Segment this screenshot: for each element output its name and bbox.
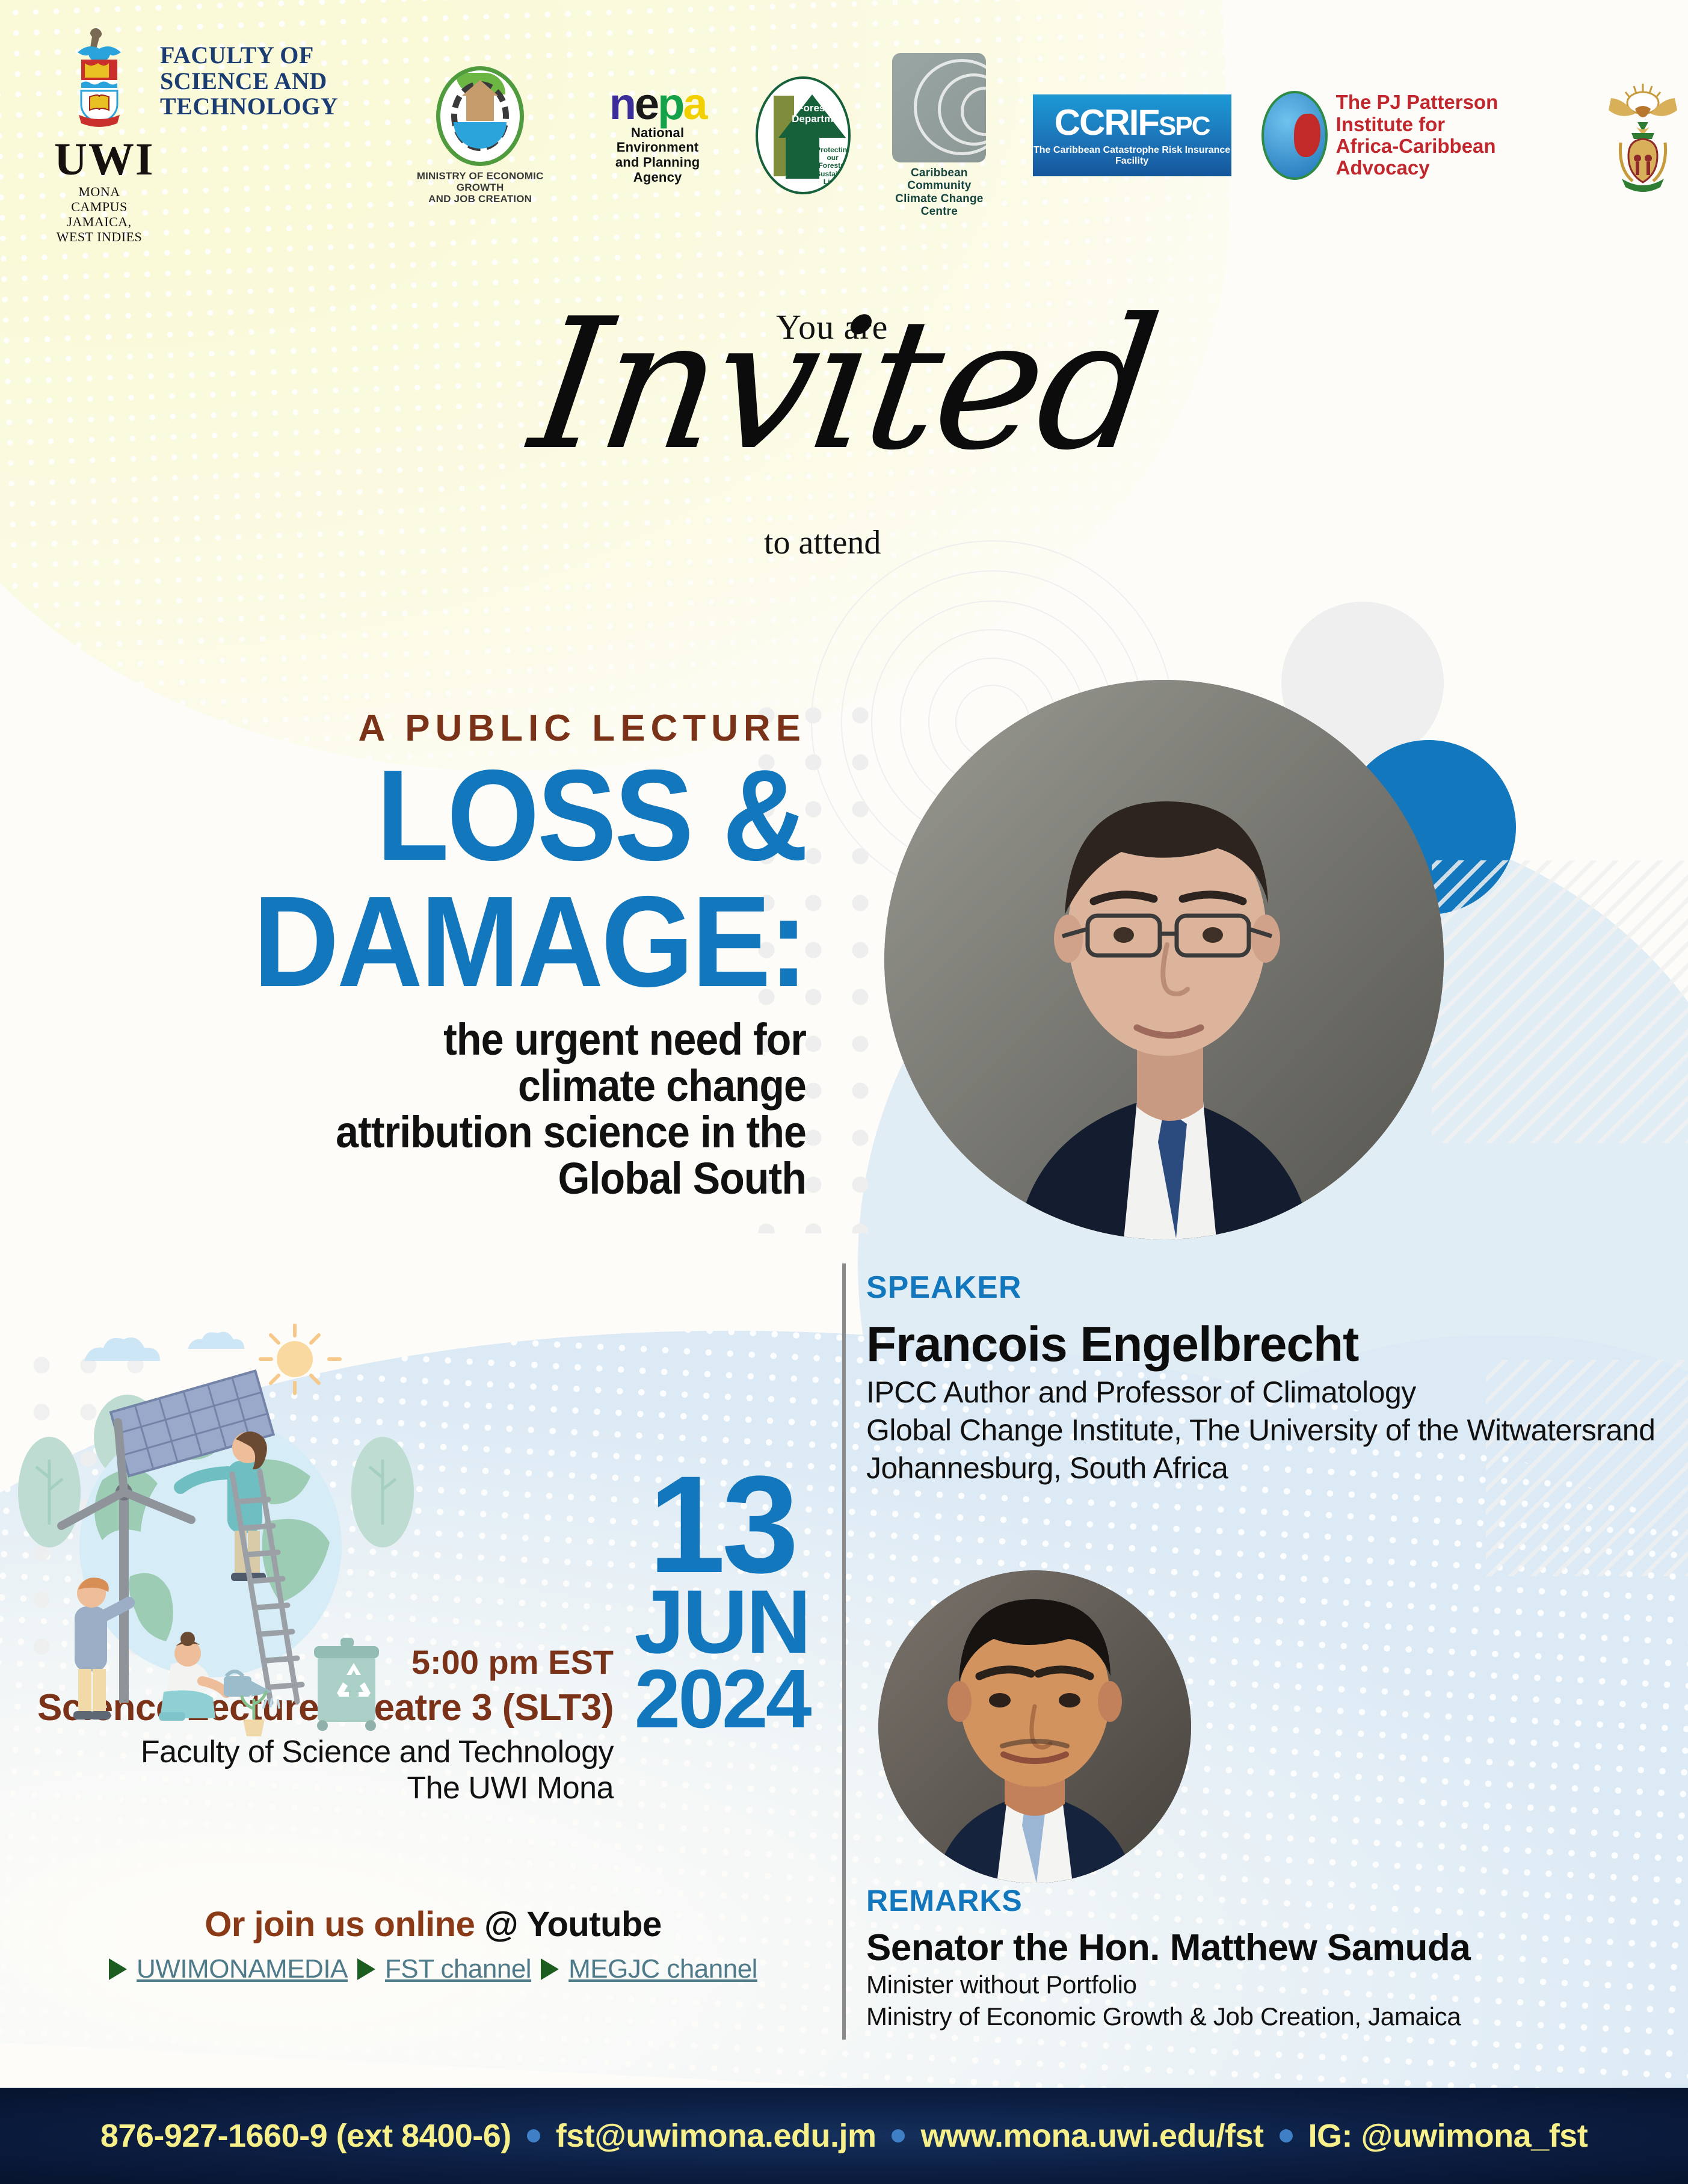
pjp-title-2: Africa-Caribbean Advocacy bbox=[1336, 135, 1571, 179]
cccc-logo: Caribbean Community Climate Change Centr… bbox=[884, 53, 994, 218]
forestry-arrow-icon: ForestryDepartment Protectingour Forests… bbox=[756, 76, 851, 194]
pjp-globe-icon bbox=[1261, 91, 1328, 180]
channel-link-megjc[interactable]: MEGJC channel bbox=[568, 1954, 757, 1984]
speaker-info-block: SPEAKER Francois Engelbrecht IPCC Author… bbox=[866, 1269, 1660, 1487]
play-triangle-icon bbox=[109, 1958, 127, 1980]
remarks-role: Minister without Portfolio bbox=[866, 1969, 1660, 2001]
remarks-ministry: Ministry of Economic Growth & Job Creati… bbox=[866, 2001, 1660, 2033]
online-join-block: Or join us online @ Youtube UWIMONAMEDIA… bbox=[72, 1904, 794, 1984]
remarks-name: Senator the Hon. Matthew Samuda bbox=[866, 1926, 1660, 1969]
remarks-info-block: REMARKS Senator the Hon. Matthew Samuda … bbox=[866, 1883, 1660, 2033]
lecture-subtitle-line-2: climate change bbox=[142, 1063, 806, 1109]
contact-footer: 876-927-1660-9 (ext 8400-6) fst@uwimona.… bbox=[0, 2088, 1688, 2184]
forestry-title-2: Department bbox=[792, 113, 848, 125]
poster-canvas: UWI MONA CAMPUS JAMAICA, WEST INDIES FAC… bbox=[0, 0, 1688, 2184]
nepa-caption-1: National Environment bbox=[598, 126, 717, 155]
nepa-wordmark-icon: nepa bbox=[609, 86, 706, 122]
ccrif-wordmark-main: CCRIF bbox=[1055, 102, 1159, 143]
channel-link-uwimonamedia[interactable]: UWIMONAMEDIA bbox=[137, 1954, 348, 1984]
uwi-campus-line2: JAMAICA, WEST INDIES bbox=[54, 214, 144, 245]
ccrif-spc-logo: CCRIFSPC The Caribbean Catastrophe Risk … bbox=[1033, 94, 1231, 176]
forestry-title-1: Forestry bbox=[797, 102, 838, 114]
megjc-emblem-icon bbox=[436, 66, 524, 166]
invitation-block: You are Invited to attend bbox=[0, 283, 1688, 475]
lecture-subtitle-line-3: attribution science in the bbox=[142, 1109, 806, 1156]
pjp-title-1: The PJ Patterson Institute for bbox=[1336, 91, 1571, 135]
south-africa-coat-of-arms bbox=[1598, 75, 1688, 196]
forestry-tag-1: Protecting bbox=[816, 146, 851, 154]
speaker-role: IPCC Author and Professor of Climatology bbox=[866, 1374, 1660, 1411]
megjc-caption-1: MINISTRY OF ECONOMIC GROWTH bbox=[404, 170, 556, 193]
climate-action-illustration bbox=[12, 1324, 421, 1745]
diagonal-stripes-decoration bbox=[1432, 860, 1688, 1143]
footer-separator-dot-2 bbox=[892, 2129, 905, 2142]
nepa-logo: nepa National Environment and Planning A… bbox=[598, 86, 717, 185]
event-campus: The UWI Mona bbox=[36, 1770, 614, 1806]
forestry-tag-2: our Forests; bbox=[818, 153, 846, 170]
event-day: 13 bbox=[626, 1468, 818, 1582]
lecture-subtitle-line-4: Global South bbox=[142, 1156, 806, 1202]
invitation-script-word: Invited bbox=[523, 295, 1165, 475]
lecture-title-block: A PUBLIC LECTURE LOSS & DAMAGE: the urge… bbox=[84, 707, 806, 1202]
faculty-line-2: SCIENCE AND bbox=[160, 69, 338, 94]
megjc-logo: MINISTRY OF ECONOMIC GROWTH AND JOB CREA… bbox=[404, 66, 556, 205]
online-heading: Or join us online @ Youtube bbox=[72, 1904, 794, 1945]
lecture-title-line-1: LOSS & bbox=[142, 754, 806, 876]
online-heading-part1: Or join us online bbox=[205, 1905, 484, 1944]
uwi-wordmark: UWI bbox=[54, 138, 144, 181]
footer-website[interactable]: www.mona.uwi.edu/fst bbox=[920, 2117, 1263, 2155]
uwi-fst-logo: UWI MONA CAMPUS JAMAICA, WEST INDIES FAC… bbox=[54, 26, 338, 244]
speaker-photo-francois-engelbrecht bbox=[884, 680, 1444, 1239]
invitation-to-attend: to attend bbox=[764, 523, 881, 562]
uwi-shield-art bbox=[63, 26, 135, 134]
event-month: JUN bbox=[626, 1582, 818, 1661]
nepa-caption-2: and Planning Agency bbox=[598, 155, 717, 185]
event-year: 2024 bbox=[626, 1661, 818, 1738]
faculty-line-1: FACULTY OF bbox=[160, 43, 338, 68]
uwi-campus-line1: MONA CAMPUS bbox=[54, 184, 144, 215]
pj-patterson-institute-logo: The PJ Patterson Institute for Africa-Ca… bbox=[1261, 91, 1571, 180]
footer-separator-dot-3 bbox=[1280, 2129, 1293, 2142]
faculty-line-3: TECHNOLOGY bbox=[160, 94, 338, 119]
forestry-tag-3: Sustaining Lives bbox=[816, 170, 851, 186]
cccc-caption-1: Caribbean Community bbox=[884, 167, 994, 193]
speaker-label: SPEAKER bbox=[866, 1269, 1660, 1306]
remarks-label: REMARKS bbox=[866, 1883, 1660, 1918]
rsa-crest-icon bbox=[1598, 75, 1688, 196]
cccc-arc-icon bbox=[892, 53, 986, 162]
online-heading-part2: @ Youtube bbox=[484, 1905, 662, 1944]
ccrif-badge-icon: CCRIFSPC The Caribbean Catastrophe Risk … bbox=[1033, 94, 1231, 176]
ccrif-caption: The Caribbean Catastrophe Risk Insurance… bbox=[1033, 145, 1231, 167]
cccc-caption-2: Climate Change Centre bbox=[884, 193, 994, 218]
speaker-affiliation: Global Change Institute, The University … bbox=[866, 1412, 1660, 1449]
speaker-name: Francois Engelbrecht bbox=[866, 1316, 1660, 1373]
channel-links: UWIMONAMEDIA FST channel MEGJC channel bbox=[72, 1954, 794, 1984]
event-date-block: 13 JUN 2024 bbox=[626, 1468, 818, 1738]
ccrif-wordmark-sub: SPC bbox=[1159, 111, 1209, 141]
lecture-subtitle-line-1: the urgent need for bbox=[142, 1017, 806, 1063]
speaker-location: Johannesburg, South Africa bbox=[866, 1450, 1660, 1487]
footer-separator-dot-1 bbox=[527, 2129, 540, 2142]
partner-logo-bar: UWI MONA CAMPUS JAMAICA, WEST INDIES FAC… bbox=[0, 36, 1688, 235]
column-divider bbox=[842, 1263, 846, 2040]
uwi-crest-icon: UWI MONA CAMPUS JAMAICA, WEST INDIES bbox=[54, 26, 144, 244]
lecture-title-line-2: DAMAGE: bbox=[142, 881, 806, 1002]
play-triangle-icon-3 bbox=[541, 1958, 559, 1980]
footer-phone: 876-927-1660-9 (ext 8400-6) bbox=[100, 2117, 511, 2155]
forestry-department-logo: ForestryDepartment Protectingour Forests… bbox=[756, 76, 851, 194]
footer-instagram[interactable]: IG: @uwimona_fst bbox=[1308, 2117, 1588, 2155]
play-triangle-icon-2 bbox=[357, 1958, 375, 1980]
footer-email[interactable]: fst@uwimona.edu.jm bbox=[556, 2117, 876, 2155]
faculty-wordmark: FACULTY OF SCIENCE AND TECHNOLOGY bbox=[160, 43, 338, 119]
remarks-photo-matthew-samuda bbox=[878, 1570, 1191, 1883]
channel-link-fst[interactable]: FST channel bbox=[385, 1954, 531, 1984]
megjc-caption-2: AND JOB CREATION bbox=[428, 193, 532, 205]
